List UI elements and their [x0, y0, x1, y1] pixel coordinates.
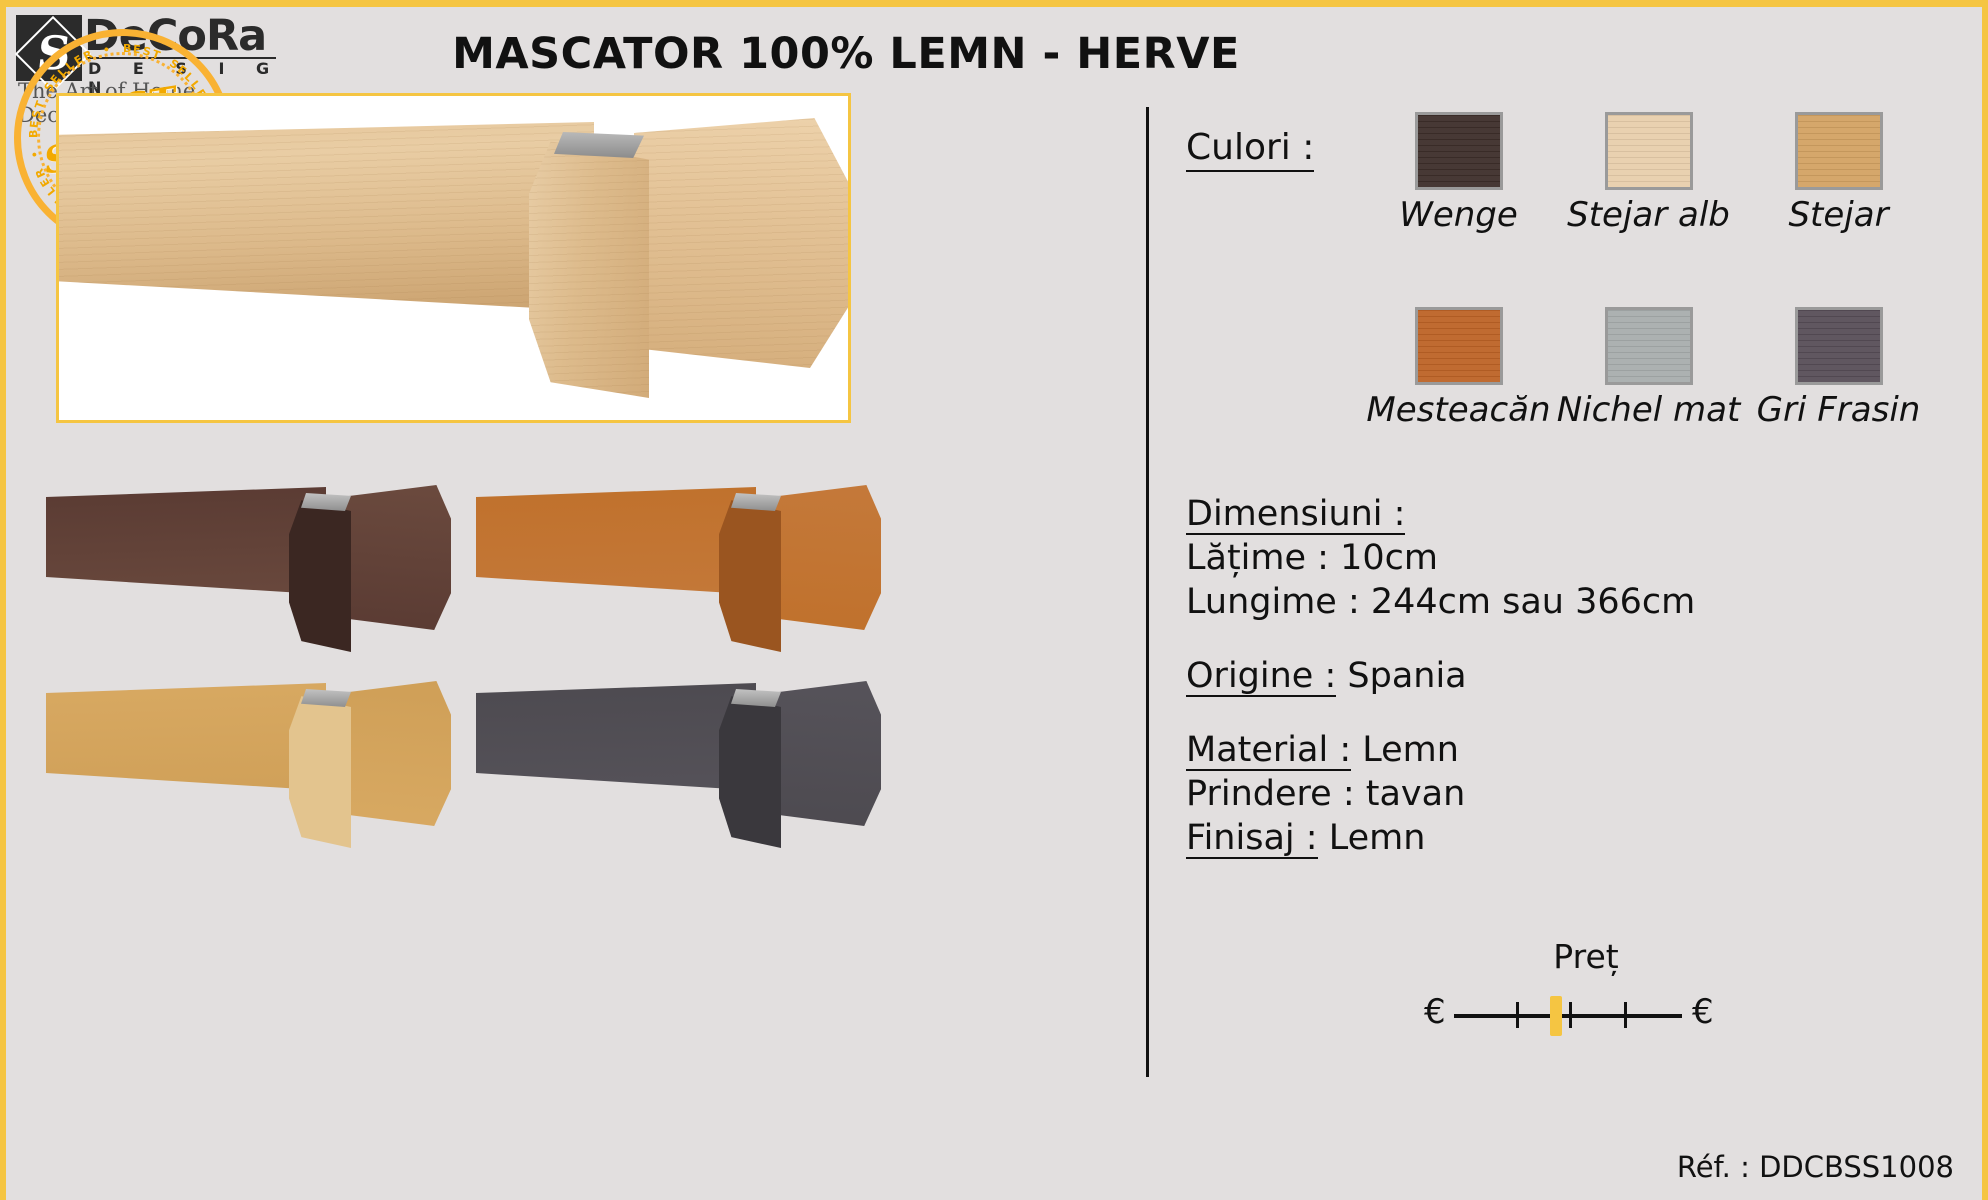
variant-image-mesteacan: [476, 479, 881, 664]
swatch-color-chip: [1795, 307, 1883, 385]
spec-origin: Origine : Spania: [1186, 654, 1695, 698]
price-tick: [1624, 1002, 1627, 1028]
column-divider: [1146, 107, 1149, 1077]
spec-length: Lungime : 244cm sau 366cm: [1186, 580, 1695, 624]
variant-beam-face: [289, 497, 351, 652]
mount-label: Prindere :: [1186, 774, 1355, 814]
swatch-color-chip: [1795, 112, 1883, 190]
dimensions-heading: Dimensiuni :: [1186, 492, 1695, 536]
variant-beam-cap: [731, 689, 781, 707]
variant-beam-top: [46, 487, 326, 612]
finish-label: Finisaj :: [1186, 819, 1318, 859]
variant-beam-side: [774, 681, 881, 826]
color-swatch-wenge[interactable]: Wenge: [1366, 112, 1551, 234]
swatch-label: Nichel mat: [1556, 391, 1741, 429]
product-spec-sheet: S DeCoRa D E S I G N The Art of Home Dec…: [0, 0, 1988, 1200]
hero-beam-face: [529, 136, 649, 398]
material-value: Lemn: [1362, 730, 1459, 770]
variant-beam-side: [774, 485, 881, 630]
price-high-currency-icon: €: [1692, 992, 1714, 1032]
variant-beam-face: [719, 693, 781, 848]
price-axis-line: [1454, 1014, 1682, 1018]
variant-image-stejar: [46, 675, 451, 860]
price-title: Preț: [1406, 937, 1766, 976]
swatch-color-chip: [1415, 112, 1503, 190]
hero-beam-top: [56, 122, 594, 337]
hero-beam-cap: [554, 132, 644, 158]
material-label: Material :: [1186, 731, 1351, 771]
variant-beam-face: [289, 693, 351, 848]
variant-beam-face: [719, 497, 781, 652]
price-bar: € €: [1406, 986, 1766, 1046]
origin-value: Spania: [1347, 656, 1466, 696]
variant-image-gri-frasin: [476, 675, 881, 860]
variant-beam-top: [46, 683, 326, 808]
variant-beam-side: [344, 681, 451, 826]
color-swatch-mesteacăn[interactable]: Mesteacăn: [1366, 307, 1551, 429]
page-title: MASCATOR 100% LEMN - HERVE: [306, 29, 1386, 79]
swatch-label: Stejar alb: [1556, 196, 1741, 234]
reference-code: Réf. : DDCBSS1008: [1677, 1150, 1954, 1184]
hero-beam-side: [634, 118, 851, 368]
finish-value: Lemn: [1329, 818, 1426, 858]
price-scale: Preț € €: [1406, 937, 1766, 1046]
color-swatch-nichel-mat[interactable]: Nichel mat: [1556, 307, 1741, 429]
mount-value: tavan: [1366, 774, 1466, 814]
variant-beam-cap: [301, 493, 351, 511]
colors-heading: Culori :: [1186, 127, 1314, 172]
spec-material: Material : Lemn: [1186, 728, 1695, 772]
color-swatch-stejar-alb[interactable]: Stejar alb: [1556, 112, 1741, 234]
color-swatch-stejar[interactable]: Stejar: [1746, 112, 1931, 234]
swatch-label: Stejar: [1746, 196, 1931, 234]
swatch-label: Wenge: [1366, 196, 1551, 234]
price-low-currency-icon: €: [1424, 992, 1446, 1032]
swatch-color-chip: [1605, 112, 1693, 190]
variant-beam-cap: [301, 689, 351, 707]
variant-beam-cap: [731, 493, 781, 511]
spec-width: Lățime : 10cm: [1186, 536, 1695, 580]
swatch-color-chip: [1415, 307, 1503, 385]
price-tick: [1516, 1002, 1519, 1028]
hero-product-image: [56, 93, 851, 423]
specifications-block: Dimensiuni : Lățime : 10cm Lungime : 244…: [1186, 492, 1695, 860]
price-tick: [1569, 1002, 1572, 1028]
swatch-color-chip: [1605, 307, 1693, 385]
variant-image-wenge: [46, 479, 451, 664]
variant-beam-top: [476, 487, 756, 612]
spec-finish: Finisaj : Lemn: [1186, 816, 1695, 860]
price-indicator: [1550, 996, 1562, 1036]
variant-beam-top: [476, 683, 756, 808]
swatch-label: Gri Frasin: [1746, 391, 1931, 429]
swatch-label: Mesteacăn: [1366, 391, 1551, 429]
variant-beam-side: [344, 485, 451, 630]
color-swatch-gri-frasin[interactable]: Gri Frasin: [1746, 307, 1931, 429]
spec-mount: Prindere : tavan: [1186, 772, 1695, 816]
origin-label: Origine :: [1186, 657, 1336, 697]
